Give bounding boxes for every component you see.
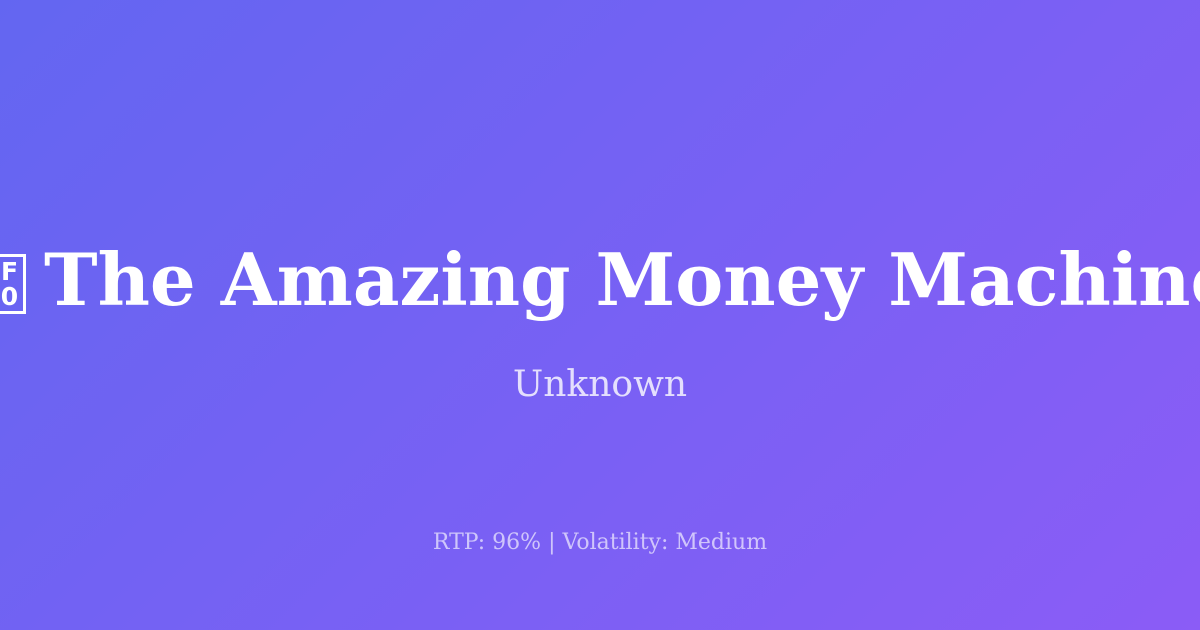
missing-glyph-hex-top: F [1, 259, 17, 284]
game-meta-line: RTP: 96% | Volatility: Medium [0, 528, 1200, 558]
game-title-text: The Amazing Money Machine [44, 237, 1200, 322]
og-share-card: F0The Amazing Money Machine Unknown RTP:… [0, 0, 1200, 630]
game-subtitle: Unknown [0, 362, 1200, 408]
page-title: F0The Amazing Money Machine [0, 232, 1200, 328]
missing-glyph-box-icon: F0 [0, 254, 26, 314]
missing-glyph-hex-bottom: 0 [1, 284, 17, 309]
title-row: F0The Amazing Money Machine [0, 232, 1192, 328]
